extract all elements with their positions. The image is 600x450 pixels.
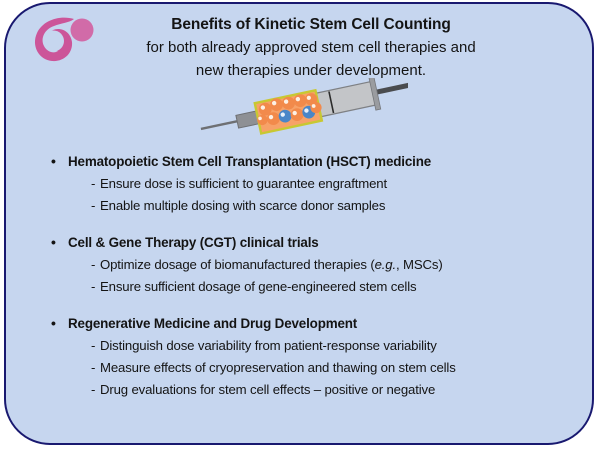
- dash-icon: -: [91, 276, 100, 298]
- dash-icon: -: [91, 357, 100, 379]
- benefit-sub-item: - Distinguish dose variability from pati…: [46, 335, 566, 357]
- syringe-with-stem-cells-icon: [192, 78, 408, 150]
- benefits-list: • Hematopoietic Stem Cell Transplantatio…: [46, 150, 566, 401]
- benefit-sub-item: - Measure effects of cryopreservation an…: [46, 357, 566, 379]
- benefit-group-heading: • Regenerative Medicine and Drug Develop…: [46, 312, 566, 335]
- benefit-group: • Hematopoietic Stem Cell Transplantatio…: [46, 150, 566, 217]
- benefit-sub-text: Ensure sufficient dosage of gene-enginee…: [100, 276, 416, 298]
- logo-inner-hole: [43, 31, 64, 52]
- benefit-group-heading: • Cell & Gene Therapy (CGT) clinical tri…: [46, 231, 566, 254]
- benefit-sub-text: Optimize dosage of biomanufactured thera…: [100, 254, 443, 276]
- dash-icon: -: [91, 335, 100, 357]
- title-block: Benefits of Kinetic Stem Cell Counting f…: [76, 14, 546, 82]
- syringe-needle: [201, 121, 238, 129]
- benefit-sub-item: - Drug evaluations for stem cell effects…: [46, 379, 566, 401]
- benefit-sub-text: Distinguish dose variability from patien…: [100, 335, 437, 357]
- benefit-group: • Cell & Gene Therapy (CGT) clinical tri…: [46, 231, 566, 298]
- syringe-plunger-rod: [375, 82, 408, 95]
- benefit-sub-text: Measure effects of cryopreservation and …: [100, 357, 456, 379]
- benefit-sub-item: - Optimize dosage of biomanufactured the…: [46, 254, 566, 276]
- dash-icon: -: [91, 195, 100, 217]
- dash-icon: -: [91, 254, 100, 276]
- benefit-sub-text: Enable multiple dosing with scarce donor…: [100, 195, 385, 217]
- page-subtitle-line-1: for both already approved stem cell ther…: [76, 36, 546, 59]
- benefit-group-title: Regenerative Medicine and Drug Developme…: [68, 313, 357, 335]
- slide-panel: Benefits of Kinetic Stem Cell Counting f…: [4, 2, 594, 445]
- bullet-icon: •: [46, 231, 68, 253]
- benefit-sub-text: Drug evaluations for stem cell effects –…: [100, 379, 435, 401]
- benefit-sub-text: Ensure dose is sufficient to guarantee e…: [100, 173, 387, 195]
- benefit-sub-item: - Ensure dose is sufficient to guarantee…: [46, 173, 566, 195]
- page-title: Benefits of Kinetic Stem Cell Counting: [76, 14, 546, 36]
- benefit-sub-item: - Ensure sufficient dosage of gene-engin…: [46, 276, 566, 298]
- dash-icon: -: [91, 379, 100, 401]
- benefit-group-heading: • Hematopoietic Stem Cell Transplantatio…: [46, 150, 566, 173]
- dash-icon: -: [91, 173, 100, 195]
- benefit-sub-item: - Enable multiple dosing with scarce don…: [46, 195, 566, 217]
- syringe-barrel-rear: [314, 81, 378, 117]
- bullet-icon: •: [46, 150, 68, 172]
- benefit-group: • Regenerative Medicine and Drug Develop…: [46, 312, 566, 401]
- benefit-group-title: Hematopoietic Stem Cell Transplantation …: [68, 151, 431, 173]
- bullet-icon: •: [46, 312, 68, 334]
- benefit-group-title: Cell & Gene Therapy (CGT) clinical trial…: [68, 232, 319, 254]
